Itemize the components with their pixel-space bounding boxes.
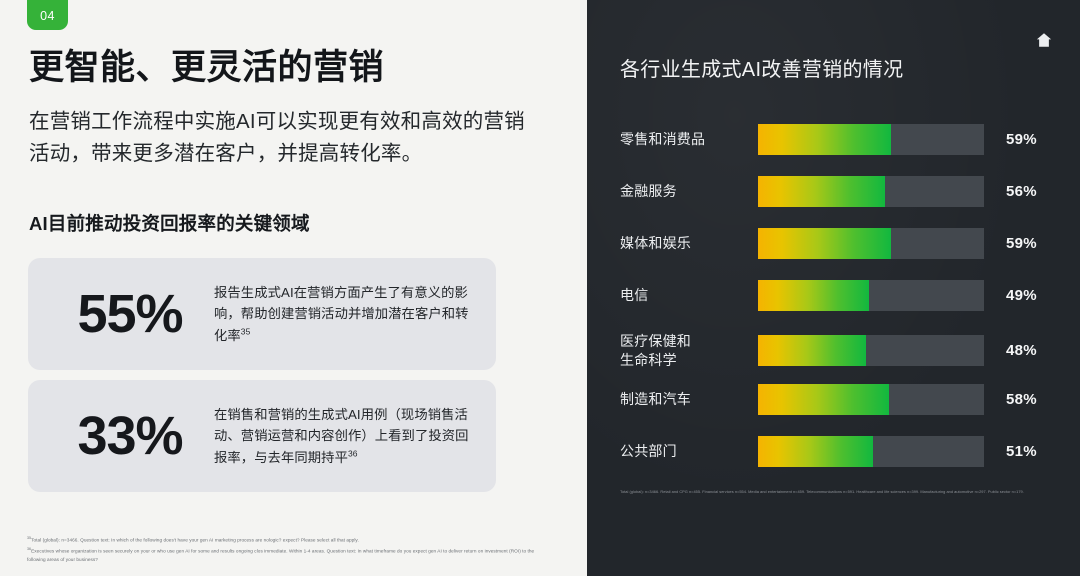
slide-root: 04 更智能、更灵活的营销 在营销工作流程中实施AI可以实现更有效和高效的营销活…: [0, 0, 1080, 576]
bar-fill: [758, 124, 891, 155]
footnote-line: 36Executives whose organization is seen …: [27, 546, 547, 564]
bar-row: 公共部门 51%: [620, 436, 1052, 467]
stat-card: 33% 在销售和营销的生成式AI用例（现场销售活动、营销运营和内容创作）上看到了…: [28, 380, 496, 492]
section-heading: AI目前推动投资回报率的关键领域: [29, 210, 539, 236]
bar-fill: [758, 176, 885, 207]
bar-track: [758, 280, 984, 311]
bar-row: 医疗保健和生命科学 48%: [620, 332, 1052, 370]
bar-value-label: 59%: [984, 131, 1052, 148]
bar-track: [758, 335, 984, 366]
chart-footnote: Total (global): n=3466. Retail and CPG n…: [620, 488, 1050, 496]
bar-fill: [758, 335, 866, 366]
bar-value-label: 51%: [984, 443, 1052, 460]
bar-category-label: 零售和消费品: [620, 130, 758, 149]
right-panel: 各行业生成式AI改善营销的情况 零售和消费品 59% 金融服务 56% 媒体和娱…: [587, 0, 1080, 576]
bar-row: 媒体和娱乐 59%: [620, 228, 1052, 259]
bar-track: [758, 228, 984, 259]
bar-category-label: 电信: [620, 286, 758, 305]
page-number-badge: 04: [27, 0, 68, 30]
home-icon[interactable]: [1035, 31, 1053, 49]
stat-value: 55%: [46, 287, 214, 341]
bar-category-label: 公共部门: [620, 442, 758, 461]
page-number-label: 04: [40, 9, 55, 23]
left-panel: 04 更智能、更灵活的营销 在营销工作流程中实施AI可以实现更有效和高效的营销活…: [0, 0, 587, 576]
stat-description: 在销售和营销的生成式AI用例（现场销售活动、营销运营和内容创作）上看到了投资回报…: [214, 404, 476, 469]
left-footnotes: 35Total (global): n=3466. Question text:…: [27, 535, 547, 565]
bar-fill: [758, 384, 889, 415]
footnote-line: 35Total (global): n=3466. Question text:…: [27, 535, 547, 545]
footnote-text: Total (global): n=3466. Retail and CPG n…: [620, 488, 1050, 495]
bar-category-label: 医疗保健和生命科学: [620, 332, 758, 370]
bar-row: 零售和消费品 59%: [620, 124, 1052, 155]
stat-description-text: 在销售和营销的生成式AI用例（现场销售活动、营销运营和内容创作）上看到了投资回报…: [214, 407, 469, 465]
stat-footnote-ref: 35: [241, 326, 251, 336]
bar-category-label: 金融服务: [620, 182, 758, 201]
stat-card: 55% 报告生成式AI在营销方面产生了有意义的影响，帮助创建营销活动并增加潜在客…: [28, 258, 496, 370]
bar-value-label: 58%: [984, 391, 1052, 408]
bar-value-label: 56%: [984, 183, 1052, 200]
bar-row: 金融服务 56%: [620, 176, 1052, 207]
page-subtitle: 在营销工作流程中实施AI可以实现更有效和高效的营销活动，带来更多潜在客户，并提高…: [29, 106, 539, 170]
bar-fill: [758, 228, 891, 259]
bar-track: [758, 176, 984, 207]
footnote-text: Executives whose organization is seen se…: [27, 548, 534, 561]
bar-value-label: 48%: [984, 342, 1052, 359]
stat-value: 33%: [46, 409, 214, 463]
bar-value-label: 59%: [984, 235, 1052, 252]
bar-fill: [758, 436, 873, 467]
bar-track: [758, 124, 984, 155]
bar-row: 制造和汽车 58%: [620, 384, 1052, 415]
stat-description: 报告生成式AI在营销方面产生了有意义的影响，帮助创建营销活动并增加潜在客户和转化…: [214, 282, 476, 347]
bar-chart: 零售和消费品 59% 金融服务 56% 媒体和娱乐 59%: [587, 118, 1080, 478]
chart-title: 各行业生成式AI改善营销的情况: [620, 53, 1040, 82]
bar-track: [758, 436, 984, 467]
stat-footnote-ref: 36: [348, 448, 358, 458]
bar-category-label: 媒体和娱乐: [620, 234, 758, 253]
bar-row: 电信 49%: [620, 280, 1052, 311]
bar-category-label: 制造和汽车: [620, 390, 758, 409]
bar-track: [758, 384, 984, 415]
page-title: 更智能、更灵活的营销: [29, 47, 549, 88]
bar-value-label: 49%: [984, 287, 1052, 304]
bar-fill: [758, 280, 869, 311]
footnote-text: Total (global): n=3466. Question text: I…: [31, 538, 359, 543]
stat-description-text: 报告生成式AI在营销方面产生了有意义的影响，帮助创建营销活动并增加潜在客户和转化…: [214, 285, 469, 343]
